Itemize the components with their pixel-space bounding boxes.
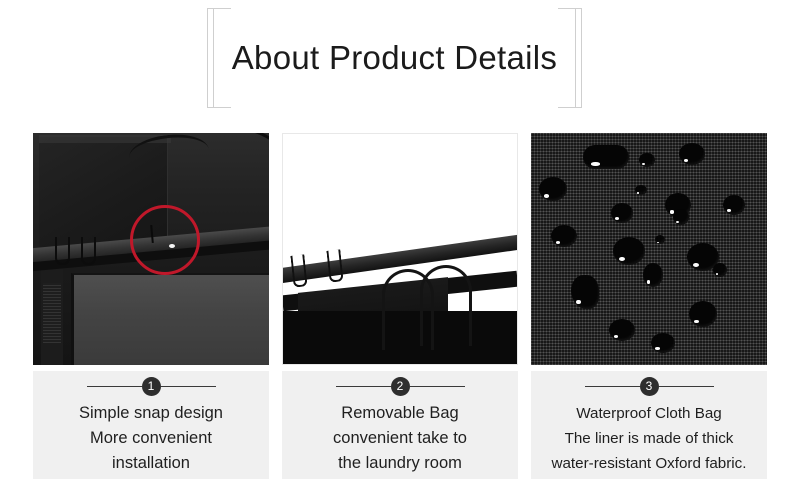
- caption-line: installation: [35, 451, 267, 476]
- water-droplet: [713, 263, 727, 277]
- snap-detail-photo: [33, 133, 269, 365]
- waterproof-fabric-photo: [531, 133, 767, 365]
- water-droplet: [639, 153, 655, 167]
- badge-row-3: 3: [531, 371, 767, 401]
- photo1-mesh-texture: [43, 283, 61, 343]
- water-droplet: [651, 333, 675, 353]
- feature-column-3: 3 Waterproof Cloth Bag The liner is made…: [531, 133, 767, 479]
- feature-columns: 1 Simple snap design More convenient ins…: [33, 133, 767, 479]
- feature-column-2: 2 Removable Bag convenient take to the l…: [282, 133, 518, 479]
- feature-card-3: 3 Waterproof Cloth Bag The liner is made…: [531, 371, 767, 479]
- feature-caption-2: Removable Bag convenient take to the lau…: [282, 401, 518, 476]
- badge-rule-right-1: [161, 386, 216, 387]
- badge-row-2: 2: [282, 371, 518, 401]
- step-badge-2: 2: [391, 377, 410, 396]
- water-droplet: [551, 225, 577, 247]
- feature-card-1: 1 Simple snap design More convenient ins…: [33, 371, 269, 479]
- caption-line: Removable Bag: [284, 401, 516, 426]
- badge-rule-left-1: [87, 386, 142, 387]
- photo1-hook-2: [81, 237, 96, 265]
- badge-rule-right-3: [659, 386, 714, 387]
- water-droplet: [673, 209, 689, 225]
- photo2-border: [282, 133, 518, 365]
- right-bracket-top-rule: [558, 8, 582, 9]
- caption-line: More convenient: [35, 426, 267, 451]
- photo3-fabric-weave: [531, 133, 767, 365]
- water-droplet: [609, 319, 635, 341]
- water-droplet: [571, 275, 599, 309]
- water-droplet: [613, 237, 645, 265]
- badge-rule-left-3: [585, 386, 640, 387]
- step-badge-1: 1: [142, 377, 161, 396]
- water-droplet: [539, 177, 567, 201]
- caption-line: Waterproof Cloth Bag: [533, 401, 765, 426]
- caption-line: Simple snap design: [35, 401, 267, 426]
- water-droplet: [723, 195, 745, 215]
- feature-caption-1: Simple snap design More convenient insta…: [33, 401, 269, 476]
- photo1-hook-1: [55, 237, 70, 265]
- caption-line: The liner is made of thick: [533, 426, 765, 451]
- right-bracket-bottom-rule: [558, 107, 582, 108]
- water-droplet: [679, 143, 705, 165]
- badge-row-1: 1: [33, 371, 269, 401]
- feature-card-2: 2 Removable Bag convenient take to the l…: [282, 371, 518, 479]
- photo1-front-panel: [71, 273, 269, 365]
- badge-rule-right-2: [410, 386, 465, 387]
- feature-column-1: 1 Simple snap design More convenient ins…: [33, 133, 269, 479]
- caption-line: the laundry room: [284, 451, 516, 476]
- right-bracket-outer-rule: [581, 8, 582, 108]
- water-droplet: [635, 185, 647, 195]
- caption-line: convenient take to: [284, 426, 516, 451]
- water-droplet: [689, 301, 717, 327]
- badge-rule-left-2: [336, 386, 391, 387]
- water-droplet: [655, 235, 665, 244]
- water-droplet: [583, 145, 629, 169]
- step-badge-3: 3: [640, 377, 659, 396]
- page-title: About Product Details: [207, 8, 582, 108]
- right-bracket-ornament: [552, 8, 582, 108]
- removable-bag-photo: [282, 133, 518, 365]
- title-frame: About Product Details: [207, 8, 582, 108]
- caption-line: water-resistant Oxford fabric.: [533, 451, 765, 476]
- water-droplet: [611, 203, 633, 223]
- feature-caption-3: Waterproof Cloth Bag The liner is made o…: [531, 401, 767, 476]
- annotation-circle-icon: [130, 205, 200, 275]
- right-bracket-inner-rule: [575, 8, 576, 108]
- page-header: About Product Details: [0, 0, 800, 120]
- water-droplet: [643, 263, 663, 287]
